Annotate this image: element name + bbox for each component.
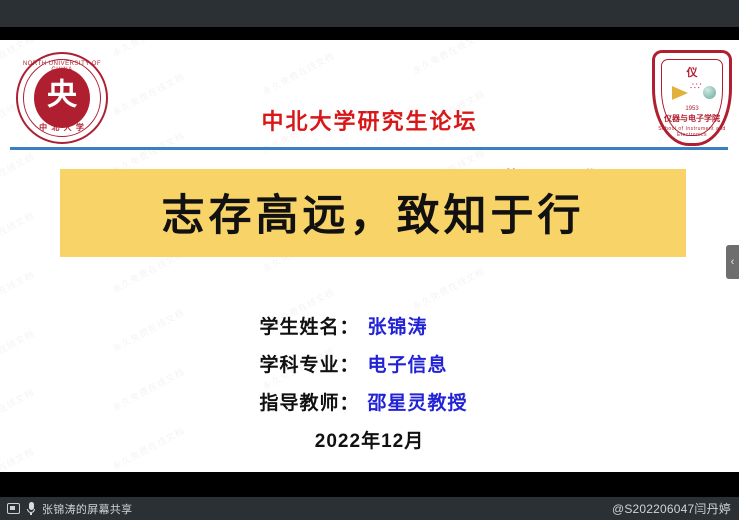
shared-slide: 永久免费在线文档永久免费在线文档永久免费在线文档永久免费在线文档 永久免费在线文… <box>0 40 739 472</box>
watermark-text: 永久免费在线文档 <box>411 40 486 76</box>
slide-info-block: 学生姓名： 张锦涛 学科专业： 电子信息 指导教师： 邵星灵教授 2022年12… <box>0 312 739 453</box>
info-label-major: 学科专业： <box>252 350 360 377</box>
crest-top-badge: 仪 <box>652 64 732 80</box>
watermark-text: 永久免费在线文档 <box>0 269 36 315</box>
slide-title-band: 志存高远，致知于行 <box>60 169 686 257</box>
crest-dots-icon: ∴∵ <box>690 82 701 90</box>
slide-main-title: 志存高远，致知于行 <box>60 181 686 243</box>
watermark-text: 永久免费在线文档 <box>0 210 36 256</box>
slide-date: 2022年12月 <box>0 426 739 453</box>
meeting-screen-share-window: 永久免费在线文档永久免费在线文档永久免费在线文档永久免费在线文档 永久免费在线文… <box>0 0 739 520</box>
crest-sphere-icon <box>703 86 716 99</box>
watermark-text: 永久免费在线文档 <box>111 40 186 59</box>
window-top-bar <box>0 0 739 27</box>
info-value-student-name: 张锦涛 <box>368 312 488 339</box>
info-row: 学科专业： 电子信息 <box>0 350 739 377</box>
watermark-text: 永久免费在线文档 <box>411 266 486 312</box>
panel-collapse-toggle[interactable]: ‹ <box>726 245 739 279</box>
info-row: 学生姓名： 张锦涛 <box>0 312 739 339</box>
bottom-letterbox <box>0 472 739 497</box>
crest-arrow-icon <box>672 86 688 100</box>
microphone-icon[interactable] <box>26 502 36 515</box>
screen-share-indicator[interactable]: 张锦涛的屏幕共享 <box>0 501 132 517</box>
watermark-text: 永久免费在线文档 <box>0 151 36 197</box>
attendee-label: @S202206047闫丹婷 <box>612 500 739 517</box>
info-value-advisor: 邵星灵教授 <box>368 388 488 415</box>
watermark-text: 永久免费在线文档 <box>261 51 336 97</box>
slide-divider <box>10 147 728 150</box>
info-label-advisor: 指导教师： <box>252 388 360 415</box>
status-bar: 张锦涛的屏幕共享 @S202206047闫丹婷 <box>0 497 739 520</box>
info-label-student-name: 学生姓名： <box>252 312 360 339</box>
screen-share-icon <box>7 503 20 514</box>
info-row: 指导教师： 邵星灵教授 <box>0 388 739 415</box>
chevron-left-icon: ‹ <box>731 256 735 268</box>
info-value-major: 电子信息 <box>368 350 488 377</box>
top-letterbox <box>0 27 739 40</box>
screen-share-label: 张锦涛的屏幕共享 <box>42 501 132 517</box>
slide-header-title: 中北大学研究生论坛 <box>0 104 739 136</box>
